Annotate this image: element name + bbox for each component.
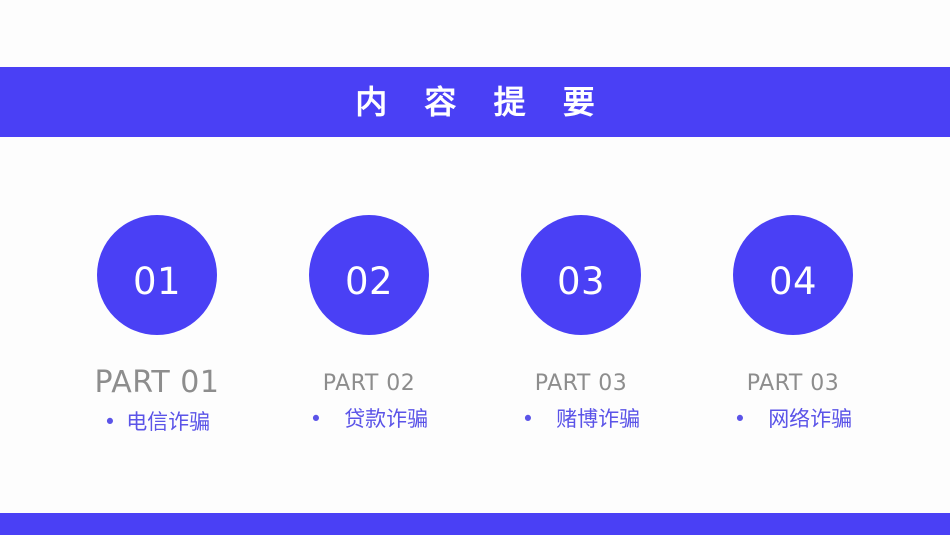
part-item-03[interactable]: 03 PART 03 • 赌博诈骗 [475, 215, 687, 430]
bullet-icon: • [734, 409, 746, 430]
part-number-03: 03 [557, 263, 605, 300]
part-label-03: PART 03 [535, 373, 628, 395]
part-description-03: • 赌博诈骗 [522, 409, 640, 430]
part-item-01[interactable]: 01 PART 01 • 电信诈骗 [51, 215, 263, 433]
bullet-icon: • [104, 412, 116, 433]
page-title: 内 容 提 要 [342, 86, 607, 118]
part-number-02: 02 [345, 263, 393, 300]
part-description-text-02: 贷款诈骗 [344, 409, 428, 430]
part-description-text-03: 赌博诈骗 [556, 409, 640, 430]
part-label-04: PART 03 [747, 373, 840, 395]
part-label-01: PART 01 [95, 368, 220, 398]
part-description-04: • 网络诈骗 [734, 409, 852, 430]
part-item-02[interactable]: 02 PART 02 • 贷款诈骗 [263, 215, 475, 430]
header-band: 内 容 提 要 [0, 67, 950, 137]
parts-row: 01 PART 01 • 电信诈骗 02 PART 02 • 贷款诈骗 03 P… [0, 215, 950, 455]
bullet-icon: • [310, 409, 322, 430]
part-number-01: 01 [133, 263, 181, 300]
part-label-02: PART 02 [323, 373, 416, 395]
slide-content-summary: 内 容 提 要 01 PART 01 • 电信诈骗 02 PART 02 • 贷… [0, 0, 950, 535]
part-description-text-04: 网络诈骗 [768, 409, 852, 430]
part-circle-02[interactable]: 02 [309, 215, 429, 335]
part-description-02: • 贷款诈骗 [310, 409, 428, 430]
part-circle-01[interactable]: 01 [97, 215, 217, 335]
part-circle-03[interactable]: 03 [521, 215, 641, 335]
part-description-text-01: 电信诈骗 [126, 412, 210, 433]
part-number-04: 04 [769, 263, 817, 300]
part-item-04[interactable]: 04 PART 03 • 网络诈骗 [687, 215, 899, 430]
part-description-01: • 电信诈骗 [104, 412, 210, 433]
bullet-icon: • [522, 409, 534, 430]
footer-band [0, 513, 950, 535]
part-circle-04[interactable]: 04 [733, 215, 853, 335]
